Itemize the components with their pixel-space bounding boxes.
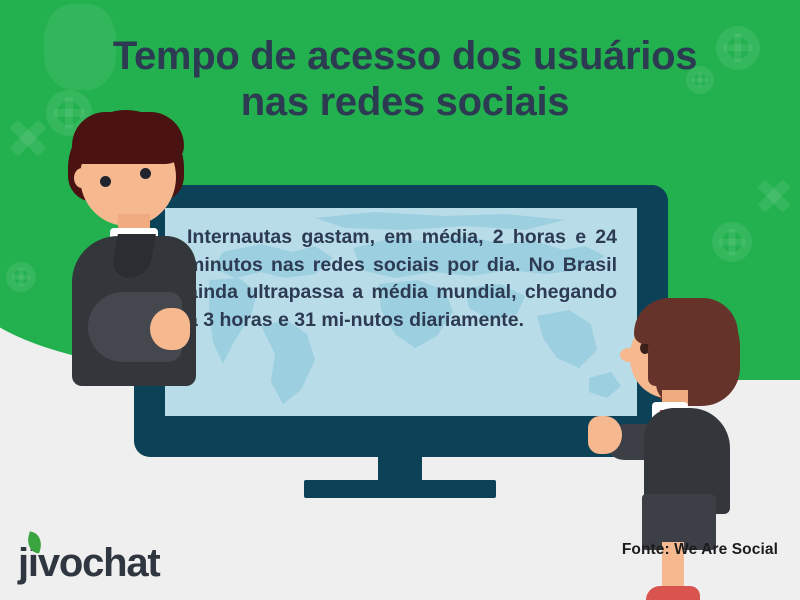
- gear-cross-icon-topleft: [8, 118, 48, 158]
- man-eye-left: [100, 176, 111, 187]
- infographic-canvas: Tempo de acesso dos usuários nas redes s…: [0, 0, 800, 600]
- illustration-woman: [600, 298, 770, 538]
- woman-hair-sideburn: [648, 340, 666, 386]
- woman-shoe: [646, 586, 700, 600]
- jivochat-logo[interactable]: jivochat: [18, 543, 160, 583]
- source-attribution: Fonte: We Are Social: [622, 541, 778, 559]
- woman-nose: [620, 348, 638, 362]
- screen-body-text: Internautas gastam, em média, 2 horas e …: [187, 224, 617, 335]
- gear-icon-left-mid: [6, 262, 36, 292]
- monitor-screen: Internautas gastam, em média, 2 horas e …: [165, 208, 637, 416]
- man-hand: [150, 308, 190, 350]
- monitor-frame: Internautas gastam, em média, 2 horas e …: [134, 185, 668, 457]
- monitor-stand-base: [304, 480, 496, 498]
- gear-cross-icon-right: [756, 178, 792, 214]
- man-eye-right: [140, 168, 151, 179]
- gear-icon-midright: [712, 222, 752, 262]
- woman-hand: [588, 416, 622, 454]
- page-title-line2: nas redes sociais: [60, 80, 750, 126]
- page-title: Tempo de acesso dos usuários nas redes s…: [60, 34, 750, 125]
- page-title-line1: Tempo de acesso dos usuários: [60, 34, 750, 80]
- man-ear: [74, 168, 90, 188]
